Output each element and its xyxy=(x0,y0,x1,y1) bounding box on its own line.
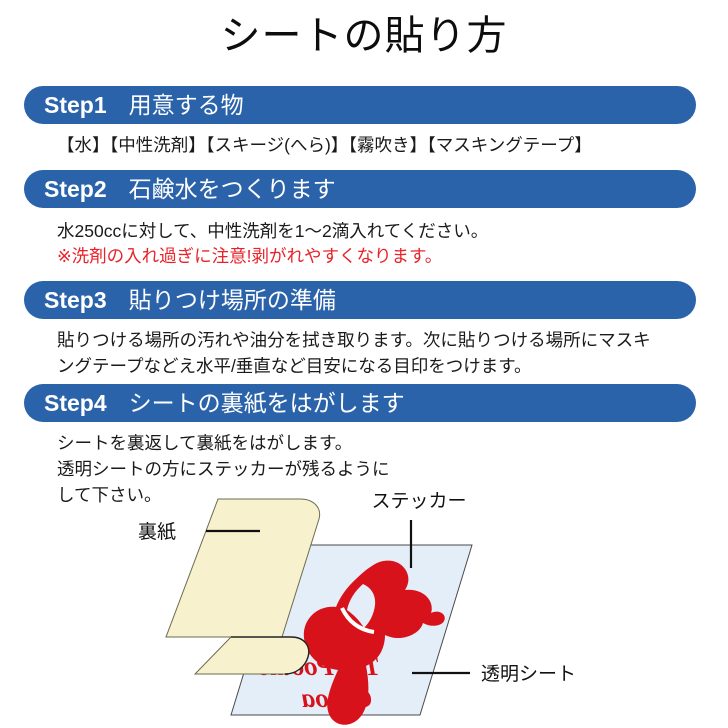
page-title: シートの貼り方 xyxy=(0,8,728,64)
step-body-1: 【水】【中性洗剤】【スキージ(へら)】【霧吹き】【マスキングテープ】 xyxy=(57,132,592,158)
step-heading-2: 石鹸水をつくります xyxy=(129,178,336,201)
peel-illustration: Toy Poodle Cocoa 裏紙 ステッカー 透明シート xyxy=(0,470,728,728)
sticker-label: ステッカー xyxy=(371,491,466,512)
step-heading-3: 貼りつけ場所の準備 xyxy=(129,289,336,312)
step-bar-3: Step3 貼りつけ場所の準備 xyxy=(24,281,696,319)
step-heading-4: シートの裏紙をはがします xyxy=(129,392,405,415)
step-number-3: Step3 xyxy=(44,289,107,312)
step-number-2: Step2 xyxy=(44,178,107,201)
sticker-line-2: Cocoa xyxy=(302,683,373,713)
step-body-3: 貼りつける場所の汚れや油分を拭き取ります。次に貼りつける場所にマスキングテープな… xyxy=(57,327,657,379)
step-warning-2: ※洗剤の入れ過ぎに注意!剥がれやすくなります。 xyxy=(57,243,442,269)
step-number-1: Step1 xyxy=(44,94,107,117)
step-bar-2: Step2 石鹸水をつくります xyxy=(24,170,696,208)
step-heading-1: 用意する物 xyxy=(129,94,244,117)
backing-paper-label: 裏紙 xyxy=(138,521,176,543)
clear-sheet-label: 透明シート xyxy=(481,663,576,685)
step-bar-4: Step4 シートの裏紙をはがします xyxy=(24,384,696,422)
step-body-2: 水250ccに対して、中性洗剤を1〜2滴入れてください。 xyxy=(57,218,488,244)
instruction-sheet: シートの貼り方 Step1 用意する物 【水】【中性洗剤】【スキージ(へら)】【… xyxy=(0,0,728,728)
step-bar-1: Step1 用意する物 xyxy=(24,86,696,124)
backing-paper-curl xyxy=(195,637,309,674)
step-number-4: Step4 xyxy=(44,392,107,415)
